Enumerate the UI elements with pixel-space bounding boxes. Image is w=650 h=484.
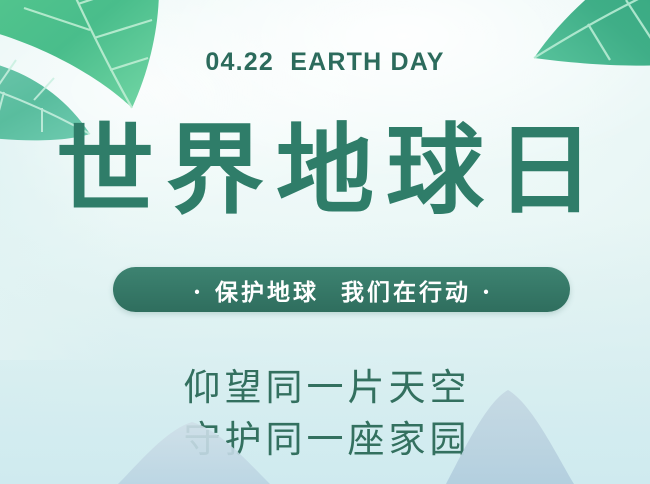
eyebrow-text: 04.22 EARTH DAY xyxy=(0,48,650,77)
slogan-text: · 保护地球 我们在行动 · xyxy=(190,273,493,307)
slogan-banner: · 保护地球 我们在行动 · xyxy=(113,267,570,312)
tagline-block: 仰望同一片天空 守护同一座家园 xyxy=(0,362,650,466)
page-title: 世界地球日 xyxy=(0,122,650,220)
tagline-line-1: 仰望同一片天空 xyxy=(0,362,650,414)
earth-day-poster: 04.22 EARTH DAY 世界地球日 · 保护地球 我们在行动 · 仰望同… xyxy=(0,0,650,484)
tagline-line-2: 守护同一座家园 xyxy=(0,414,650,466)
